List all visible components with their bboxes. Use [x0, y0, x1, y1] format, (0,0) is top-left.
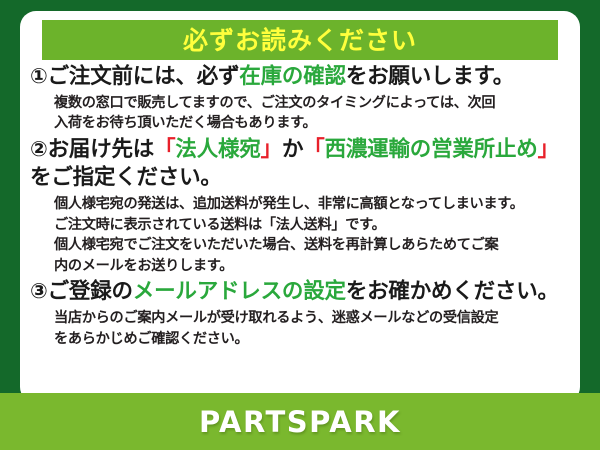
item-3-heading: ③ご登録のメールアドレスの設定をお確かめください。 [30, 278, 568, 307]
item-2-quote-close-1: 」 [261, 137, 282, 162]
item-3-body-line-2: をあらかじめご確認ください。 [54, 329, 568, 350]
item-1-body-line-1: 複数の窓口で販売してますので、ご注文のタイミングによっては、次回 [54, 93, 568, 114]
item-3-body-line-1: 当店からのご案内メールが受け取れるよう、迷惑メールなどの受信設定 [54, 308, 568, 329]
item-1-body: 複数の窓口で販売してますので、ご注文のタイミングによっては、次回 入荷をお待ち頂… [54, 93, 568, 134]
page-title: 必ずお読みください [183, 28, 417, 53]
notice-item-2: ②お届け先は「法人様宛」か「西濃運輸の営業所止め」 をご指定ください。 個人様宅… [30, 136, 568, 277]
brand-logo: PARTSPARK [199, 405, 401, 439]
notice-item-3: ③ご登録のメールアドレスの設定をお確かめください。 当店からのご案内メールが受け… [30, 278, 568, 349]
title-banner: 必ずお読みください [42, 20, 558, 60]
notice-card: 必ずお読みください ①ご注文前には、必ず在庫の確認をお願いします。 複数の窓口で… [20, 11, 580, 403]
item-2-body-line-1: 個人様宅宛の発送は、追加送料が発生し、非常に高額となってしまいます。 [54, 194, 568, 215]
item-3-heading-part-1: ご登録の [48, 279, 133, 304]
item-1-heading: ①ご注文前には、必ず在庫の確認をお願いします。 [30, 63, 568, 92]
notice-content: ①ご注文前には、必ず在庫の確認をお願いします。 複数の窓口で販売してますので、ご… [20, 63, 580, 351]
item-2-quote-open-1: 「 [154, 137, 175, 162]
item-1-heading-highlight: 在庫の確認 [239, 64, 346, 89]
item-2-heading-part-1: お届け先は [48, 137, 155, 162]
item-2-highlight-1: 法人様宛 [175, 137, 260, 162]
item-2-body-line-3: 個人様宅宛でご注文をいただいた場合、送料を再計算しあらためてご案 [54, 235, 568, 256]
item-2-heading-line-1: ②お届け先は「法人様宛」か「西濃運輸の営業所止め」 [30, 136, 568, 165]
item-3-heading-part-2: をお確かめください。 [346, 279, 559, 304]
item-2-body-line-2: ご注文時に表示されている送料は「法人送料」です。 [54, 215, 568, 236]
item-1-number: ① [30, 64, 48, 88]
item-3-number: ③ [30, 279, 48, 303]
notice-poster: 必ずお読みください ①ご注文前には、必ず在庫の確認をお願いします。 複数の窓口で… [0, 0, 600, 450]
item-2-body: 個人様宅宛の発送は、追加送料が発生し、非常に高額となってしまいます。 ご注文時に… [54, 194, 568, 276]
footer-band: PARTSPARK [0, 393, 600, 450]
item-2-body-line-4: 内のメールをお送りします。 [54, 256, 568, 277]
item-2-heading-part-2: か [282, 137, 303, 162]
item-2-quote-open-2: 「 [303, 137, 324, 162]
item-2-number: ② [30, 137, 48, 161]
item-3-heading-highlight: メールアドレスの設定 [133, 279, 346, 304]
item-2-heading-line-2: をご指定ください。 [30, 164, 568, 193]
item-3-body: 当店からのご案内メールが受け取れるよう、迷惑メールなどの受信設定 をあらかじめご… [54, 308, 568, 349]
item-1-heading-part-2: をお願いします。 [346, 64, 514, 89]
item-2-quote-close-2: 」 [538, 137, 559, 162]
notice-item-1: ①ご注文前には、必ず在庫の確認をお願いします。 複数の窓口で販売してますので、ご… [30, 63, 568, 134]
item-1-body-line-2: 入荷をお待ち頂いただく場合もあります。 [54, 113, 568, 134]
item-1-heading-part-1: ご注文前には、必ず [48, 64, 240, 89]
item-2-highlight-2: 西濃運輸の営業所止め [325, 137, 538, 162]
